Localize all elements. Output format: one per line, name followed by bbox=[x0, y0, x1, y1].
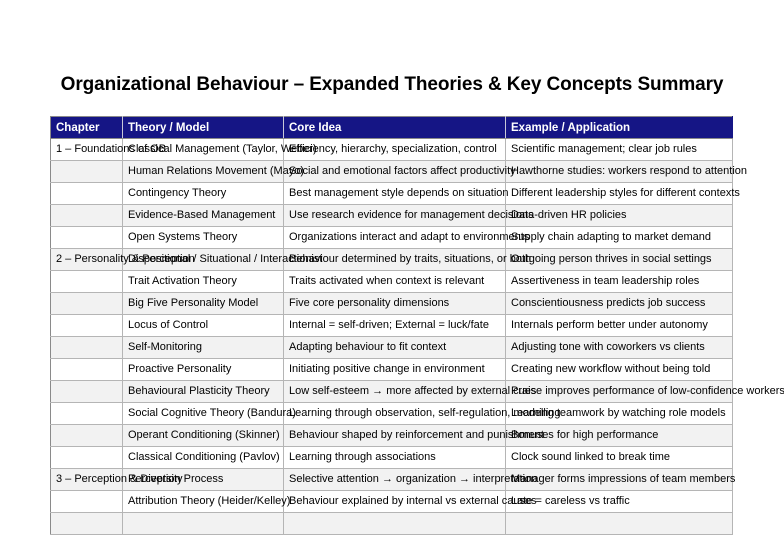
cell-text-example: Manager forms impressions of team member… bbox=[511, 473, 735, 486]
theories-summary-table: Chapter Theory / Model Core Idea Example… bbox=[50, 116, 733, 535]
cell-text-example: Internals perform better under autonomy bbox=[511, 319, 708, 332]
table-cell-chapter bbox=[51, 513, 123, 535]
table-row bbox=[51, 513, 733, 535]
table-row: Human Relations Movement (Mayo)Social an… bbox=[51, 161, 733, 183]
cell-text-example: Different leadership styles for differen… bbox=[511, 187, 740, 200]
cell-text-core: Best management style depends on situati… bbox=[289, 187, 509, 200]
cell-text-core: Initiating positive change in environmen… bbox=[289, 363, 485, 376]
table-cell-theory: Human Relations Movement (Mayo) bbox=[123, 161, 284, 183]
table-cell-example bbox=[506, 513, 733, 535]
table-row: Open Systems TheoryOrganizations interac… bbox=[51, 227, 733, 249]
table-cell-example: Data-driven HR policies bbox=[506, 205, 733, 227]
table-row: Locus of ControlInternal = self-driven; … bbox=[51, 315, 733, 337]
table-cell-example: Internals perform better under autonomy bbox=[506, 315, 733, 337]
column-header-example-label: Example / Application bbox=[511, 122, 630, 134]
table-cell-chapter bbox=[51, 491, 123, 513]
cell-text-theory: Human Relations Movement (Mayo) bbox=[128, 165, 304, 178]
cell-text-core: Behaviour determined by traits, situatio… bbox=[289, 253, 531, 266]
table-body: 1 – Foundations of OBClassical Managemen… bbox=[51, 139, 733, 535]
table-cell-theory: Attribution Theory (Heider/Kelley) bbox=[123, 491, 284, 513]
table-cell-example: Outgoing person thrives in social settin… bbox=[506, 249, 733, 271]
table-cell-chapter bbox=[51, 293, 123, 315]
cell-text-core: Behaviour shaped by reinforcement and pu… bbox=[289, 429, 544, 442]
table-cell-core: Efficiency, hierarchy, specialization, c… bbox=[284, 139, 506, 161]
cell-text-theory: Operant Conditioning (Skinner) bbox=[128, 429, 280, 442]
cell-text-core: Internal = self-driven; External = luck/… bbox=[289, 319, 489, 332]
cell-text-chapter: 2 – Personality & Perception bbox=[56, 253, 195, 266]
cell-text-core: Efficiency, hierarchy, specialization, c… bbox=[289, 143, 497, 156]
table-cell-core: Behaviour shaped by reinforcement and pu… bbox=[284, 425, 506, 447]
cell-text-example: Learning teamwork by watching role model… bbox=[511, 407, 726, 420]
table-cell-theory: Operant Conditioning (Skinner) bbox=[123, 425, 284, 447]
column-header-core-idea-label: Core Idea bbox=[289, 122, 341, 134]
table-cell-chapter bbox=[51, 447, 123, 469]
table-cell-chapter: 1 – Foundations of OB bbox=[51, 139, 123, 161]
table-row: Social Cognitive Theory (Bandura)Learnin… bbox=[51, 403, 733, 425]
cell-text-theory: Classical Conditioning (Pavlov) bbox=[128, 451, 280, 464]
cell-text-core: Social and emotional factors affect prod… bbox=[289, 165, 516, 178]
table-cell-chapter bbox=[51, 227, 123, 249]
table-cell-chapter bbox=[51, 381, 123, 403]
table-row: Self-MonitoringAdapting behaviour to fit… bbox=[51, 337, 733, 359]
table-cell-chapter bbox=[51, 425, 123, 447]
summary-table-container: Chapter Theory / Model Core Idea Example… bbox=[50, 116, 732, 535]
table-cell-theory: Self-Monitoring bbox=[123, 337, 284, 359]
cell-text-core: Learning through associations bbox=[289, 451, 436, 464]
table-cell-theory: Trait Activation Theory bbox=[123, 271, 284, 293]
cell-text-chapter: 3 – Perception & Diversity bbox=[56, 473, 183, 486]
table-cell-theory: Contingency Theory bbox=[123, 183, 284, 205]
table-cell-theory: Locus of Control bbox=[123, 315, 284, 337]
table-cell-core: Low self-esteem → more affected by exter… bbox=[284, 381, 506, 403]
cell-text-theory: Self-Monitoring bbox=[128, 341, 202, 354]
table-cell-theory bbox=[123, 513, 284, 535]
cell-text-theory: Behavioural Plasticity Theory bbox=[128, 385, 270, 398]
table-cell-core: Internal = self-driven; External = luck/… bbox=[284, 315, 506, 337]
table-cell-core: Five core personality dimensions bbox=[284, 293, 506, 315]
table-cell-chapter: 3 – Perception & Diversity bbox=[51, 469, 123, 491]
table-cell-core: Behaviour explained by internal vs exter… bbox=[284, 491, 506, 513]
table-cell-theory: Open Systems Theory bbox=[123, 227, 284, 249]
table-cell-theory: Behavioural Plasticity Theory bbox=[123, 381, 284, 403]
table-cell-chapter bbox=[51, 183, 123, 205]
table-row: Evidence-Based ManagementUse research ev… bbox=[51, 205, 733, 227]
table-cell-chapter bbox=[51, 271, 123, 293]
table-row: 1 – Foundations of OBClassical Managemen… bbox=[51, 139, 733, 161]
cell-text-theory: Evidence-Based Management bbox=[128, 209, 275, 222]
table-cell-theory: Big Five Personality Model bbox=[123, 293, 284, 315]
table-cell-theory: Social Cognitive Theory (Bandura) bbox=[123, 403, 284, 425]
cell-text-example: Clock sound linked to break time bbox=[511, 451, 670, 464]
page-title: Organizational Behaviour – Expanded Theo… bbox=[0, 74, 784, 96]
cell-text-theory: Open Systems Theory bbox=[128, 231, 237, 244]
table-row: 2 – Personality & PerceptionDispositiona… bbox=[51, 249, 733, 271]
table-cell-example: Manager forms impressions of team member… bbox=[506, 469, 733, 491]
table-cell-chapter bbox=[51, 161, 123, 183]
table-cell-core: Learning through associations bbox=[284, 447, 506, 469]
cell-text-theory: Social Cognitive Theory (Bandura) bbox=[128, 407, 296, 420]
column-header-core-idea: Core Idea bbox=[284, 117, 506, 139]
cell-text-core: Low self-esteem → more affected by exter… bbox=[289, 385, 536, 398]
table-cell-chapter bbox=[51, 205, 123, 227]
cell-text-theory: Proactive Personality bbox=[128, 363, 231, 376]
table-cell-example: Adjusting tone with coworkers vs clients bbox=[506, 337, 733, 359]
cell-text-theory: Contingency Theory bbox=[128, 187, 226, 200]
cell-text-theory: Attribution Theory (Heider/Kelley) bbox=[128, 495, 290, 508]
cell-text-example: Creating new workflow without being told bbox=[511, 363, 710, 376]
table-cell-example: Different leadership styles for differen… bbox=[506, 183, 733, 205]
table-cell-theory: Evidence-Based Management bbox=[123, 205, 284, 227]
cell-text-chapter: 1 – Foundations of OB bbox=[56, 143, 166, 156]
table-cell-example: Scientific management; clear job rules bbox=[506, 139, 733, 161]
table-cell-core: Selective attention → organization → int… bbox=[284, 469, 506, 491]
table-cell-example: Supply chain adapting to market demand bbox=[506, 227, 733, 249]
cell-text-core: Selective attention → organization → int… bbox=[289, 473, 537, 486]
cell-text-example: Praise improves performance of low-confi… bbox=[511, 385, 784, 398]
table-cell-example: Assertiveness in team leadership roles bbox=[506, 271, 733, 293]
table-cell-core: Use research evidence for management dec… bbox=[284, 205, 506, 227]
cell-text-example: Bonuses for high performance bbox=[511, 429, 658, 442]
cell-text-core: Adapting behaviour to fit context bbox=[289, 341, 446, 354]
cell-text-example: Outgoing person thrives in social settin… bbox=[511, 253, 712, 266]
document-page: Organizational Behaviour – Expanded Theo… bbox=[0, 0, 784, 441]
table-cell-core: Behaviour determined by traits, situatio… bbox=[284, 249, 506, 271]
table-cell-example: Learning teamwork by watching role model… bbox=[506, 403, 733, 425]
table-row: Operant Conditioning (Skinner)Behaviour … bbox=[51, 425, 733, 447]
table-cell-core: Adapting behaviour to fit context bbox=[284, 337, 506, 359]
table-row: Proactive PersonalityInitiating positive… bbox=[51, 359, 733, 381]
table-cell-theory: Classical Conditioning (Pavlov) bbox=[123, 447, 284, 469]
column-header-chapter-label: Chapter bbox=[56, 122, 99, 134]
table-header: Chapter Theory / Model Core Idea Example… bbox=[51, 117, 733, 139]
table-cell-core: Learning through observation, self-regul… bbox=[284, 403, 506, 425]
cell-text-example: Supply chain adapting to market demand bbox=[511, 231, 711, 244]
table-cell-example: Praise improves performance of low-confi… bbox=[506, 381, 733, 403]
table-cell-chapter bbox=[51, 403, 123, 425]
cell-text-theory: Big Five Personality Model bbox=[128, 297, 258, 310]
cell-text-example: Hawthorne studies: workers respond to at… bbox=[511, 165, 747, 178]
table-cell-core: Best management style depends on situati… bbox=[284, 183, 506, 205]
table-cell-core: Initiating positive change in environmen… bbox=[284, 359, 506, 381]
table-row: Classical Conditioning (Pavlov)Learning … bbox=[51, 447, 733, 469]
column-header-theory: Theory / Model bbox=[123, 117, 284, 139]
table-cell-example: Clock sound linked to break time bbox=[506, 447, 733, 469]
column-header-theory-label: Theory / Model bbox=[128, 122, 209, 134]
table-header-row: Chapter Theory / Model Core Idea Example… bbox=[51, 117, 733, 139]
table-row: Trait Activation TheoryTraits activated … bbox=[51, 271, 733, 293]
table-cell-example: Bonuses for high performance bbox=[506, 425, 733, 447]
table-cell-chapter bbox=[51, 315, 123, 337]
cell-text-example: Conscientiousness predicts job success bbox=[511, 297, 705, 310]
cell-text-example: Scientific management; clear job rules bbox=[511, 143, 697, 156]
table-row: Attribution Theory (Heider/Kelley)Behavi… bbox=[51, 491, 733, 513]
table-cell-chapter: 2 – Personality & Perception bbox=[51, 249, 123, 271]
table-cell-chapter bbox=[51, 359, 123, 381]
table-cell-core: Organizations interact and adapt to envi… bbox=[284, 227, 506, 249]
table-cell-theory: Proactive Personality bbox=[123, 359, 284, 381]
column-header-example: Example / Application bbox=[506, 117, 733, 139]
column-header-chapter: Chapter bbox=[51, 117, 123, 139]
cell-text-example: Data-driven HR policies bbox=[511, 209, 627, 222]
cell-text-example: Assertiveness in team leadership roles bbox=[511, 275, 699, 288]
table-row: 3 – Perception & DiversityPerception Pro… bbox=[51, 469, 733, 491]
cell-text-core: Five core personality dimensions bbox=[289, 297, 449, 310]
cell-text-core: Use research evidence for management dec… bbox=[289, 209, 534, 222]
cell-text-example: Adjusting tone with coworkers vs clients bbox=[511, 341, 705, 354]
table-cell-core: Social and emotional factors affect prod… bbox=[284, 161, 506, 183]
cell-text-core: Behaviour explained by internal vs exter… bbox=[289, 495, 537, 508]
cell-text-theory: Locus of Control bbox=[128, 319, 208, 332]
cell-text-core: Organizations interact and adapt to envi… bbox=[289, 231, 529, 244]
table-row: Behavioural Plasticity TheoryLow self-es… bbox=[51, 381, 733, 403]
table-row: Big Five Personality ModelFive core pers… bbox=[51, 293, 733, 315]
cell-text-core: Traits activated when context is relevan… bbox=[289, 275, 484, 288]
table-cell-example: Creating new workflow without being told bbox=[506, 359, 733, 381]
table-cell-example: Late = careless vs traffic bbox=[506, 491, 733, 513]
table-cell-core: Traits activated when context is relevan… bbox=[284, 271, 506, 293]
table-row: Contingency TheoryBest management style … bbox=[51, 183, 733, 205]
table-cell-example: Conscientiousness predicts job success bbox=[506, 293, 733, 315]
cell-text-theory: Trait Activation Theory bbox=[128, 275, 237, 288]
table-cell-example: Hawthorne studies: workers respond to at… bbox=[506, 161, 733, 183]
cell-text-example: Late = careless vs traffic bbox=[511, 495, 630, 508]
table-cell-chapter bbox=[51, 337, 123, 359]
table-cell-core bbox=[284, 513, 506, 535]
